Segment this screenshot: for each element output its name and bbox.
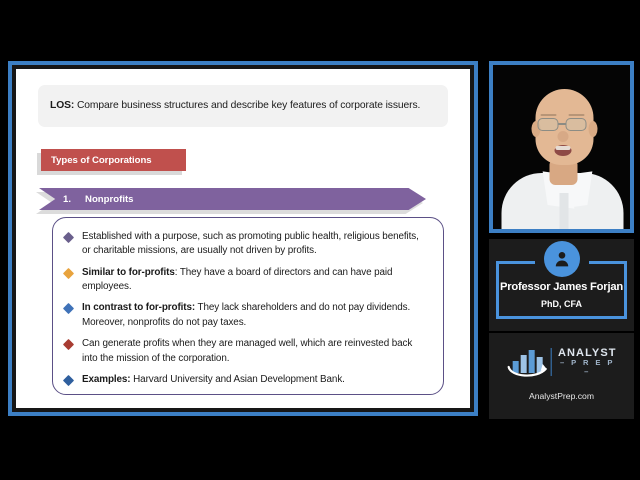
presenter-credentials: PhD, CFA (489, 299, 634, 309)
nonprofits-chevron-banner: 1. Nonprofits (39, 188, 426, 210)
slide-frame: LOS: Compare business structures and des… (12, 65, 474, 412)
presenter-ear-right (588, 121, 597, 137)
bullet-lead: Examples: (82, 374, 131, 385)
diamond-bullet-icon (63, 303, 74, 314)
presenter-teeth (555, 146, 570, 150)
presenter-name: Professor James Forjan (489, 281, 634, 293)
slide-canvas: LOS: Compare business structures and des… (16, 69, 470, 408)
presenter-nose (557, 131, 568, 142)
bullet-lead: Similar to for-profits (82, 267, 175, 278)
list-item: Similar to for-profits: They have a boar… (63, 266, 429, 295)
list-item: Established with a purpose, such as prom… (63, 230, 429, 259)
diamond-bullet-icon (63, 268, 74, 279)
bullet-text: Similar to for-profits: They have a boar… (82, 266, 429, 295)
presenter-name-plate: Professor James Forjan PhD, CFA (489, 239, 634, 331)
diamond-bullet-icon (63, 375, 74, 386)
presenter-video-tile[interactable] (489, 61, 634, 233)
glasses-bridge-icon (557, 123, 566, 125)
banner-body: Types of Corporations (41, 149, 186, 171)
glasses-lens-left-icon (537, 118, 558, 131)
bullet-body: Established with a purpose, such as prom… (82, 231, 419, 256)
bullet-body: Harvard University and Asian Development… (131, 374, 345, 385)
presenter-figure (493, 71, 630, 229)
bullet-text: In contrast to for-profits: They lack sh… (82, 301, 429, 330)
los-label: LOS: (50, 100, 74, 111)
list-item: Examples: Harvard University and Asian D… (63, 373, 429, 387)
person-icon (551, 248, 573, 270)
bar-chart-swoosh-icon (506, 345, 548, 379)
avatar (544, 241, 580, 277)
list-item: In contrast to for-profits: They lack sh… (63, 301, 429, 330)
diamond-bullet-icon (63, 232, 74, 243)
list-item: Can generate profits when they are manag… (63, 337, 429, 366)
types-of-corporations-banner: Types of Corporations (41, 149, 186, 171)
bullet-text: Established with a purpose, such as prom… (82, 230, 429, 259)
chevron-body: 1. Nonprofits (39, 188, 426, 210)
chevron-label: Nonprofits (85, 194, 134, 205)
los-description: Compare business structures and describe… (74, 100, 420, 111)
brand-url: AnalystPrep.com (489, 391, 634, 401)
brand-name-bottom: – P R E P – (558, 359, 617, 376)
bullets-card: Established with a purpose, such as prom… (52, 217, 444, 395)
glasses-lens-right-icon (565, 118, 586, 131)
brand-mark-svg (506, 345, 548, 379)
presenter-placket (559, 193, 568, 229)
brand-wordmark: ANALYST – P R E P – (558, 348, 617, 377)
diamond-bullet-icon (63, 339, 74, 350)
presenter-video-frame (493, 65, 630, 229)
bullet-text: Can generate profits when they are manag… (82, 337, 429, 366)
video-player-stage: LOS: Compare business structures and des… (0, 0, 640, 480)
brand-logo: ANALYST – P R E P – (506, 345, 617, 379)
brand-block: ANALYST – P R E P – AnalystPrep.com (489, 333, 634, 419)
bullet-body: Can generate profits when they are manag… (82, 338, 412, 363)
chevron-number: 1. (63, 194, 71, 205)
los-text: LOS: Compare business structures and des… (50, 99, 420, 113)
bullet-lead: In contrast to for-profits: (82, 302, 195, 313)
slide-panel: LOS: Compare business structures and des… (8, 61, 478, 416)
banner-label: Types of Corporations (51, 155, 152, 166)
bullet-text: Examples: Harvard University and Asian D… (82, 373, 345, 387)
los-callout-box: LOS: Compare business structures and des… (38, 85, 448, 127)
presenter-column: Professor James Forjan PhD, CFA (489, 61, 634, 419)
brand-divider (550, 348, 552, 376)
